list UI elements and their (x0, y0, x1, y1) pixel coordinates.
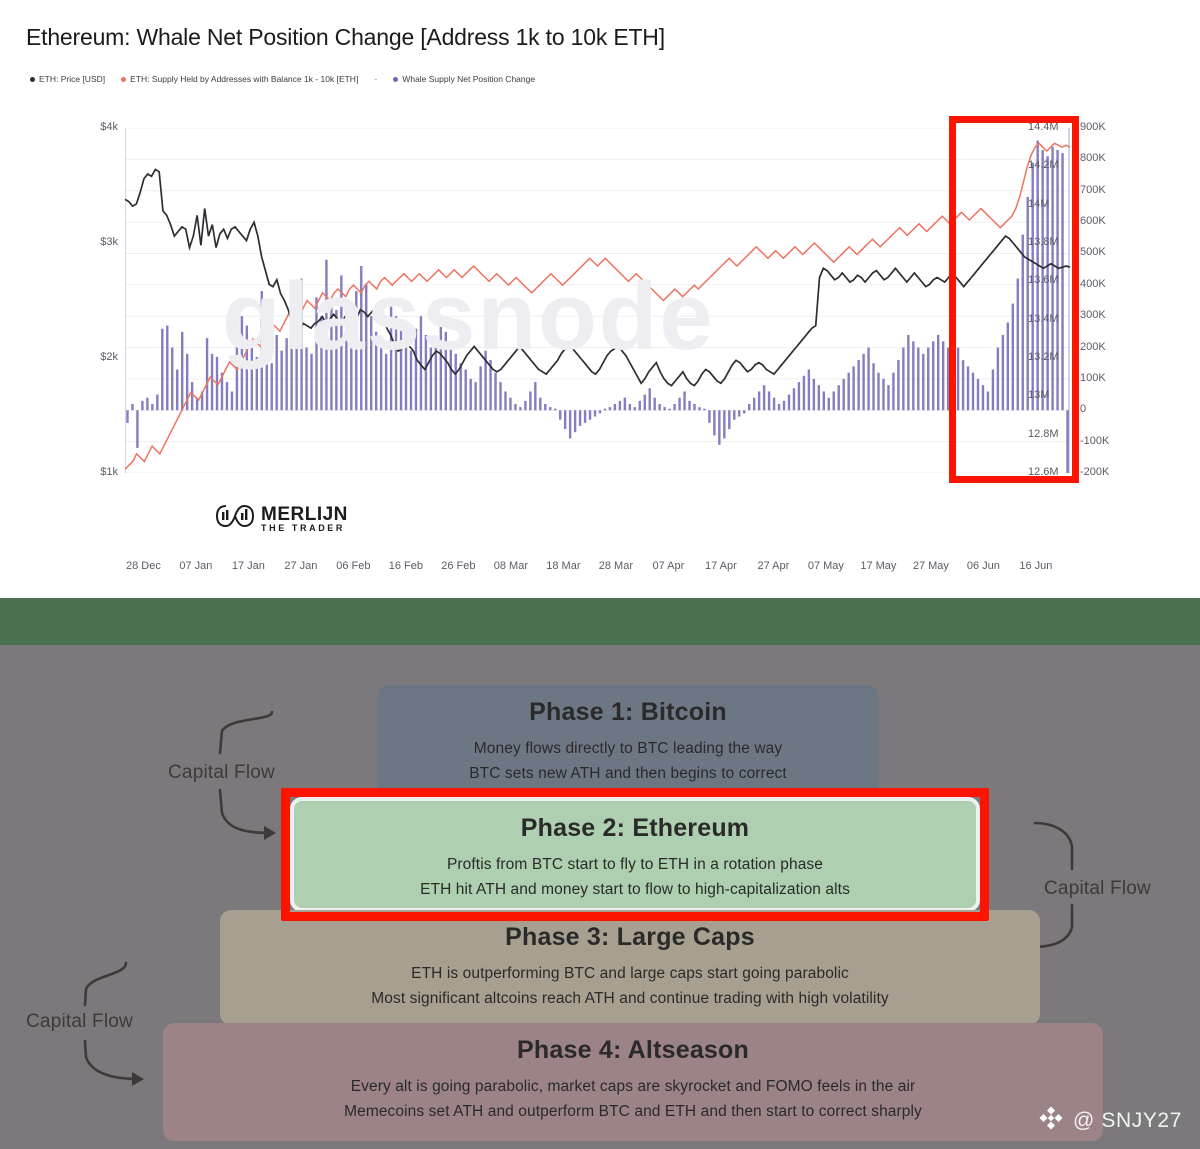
x-axis-tick: 07 Apr (652, 560, 684, 572)
y-axis-left-tick: $3k (100, 236, 118, 248)
merlijn-name: MERLIJN (261, 505, 348, 524)
phase-4-line-1: Every alt is going parabolic, market cap… (163, 1074, 1103, 1099)
legend-item-whale-net: Whale Supply Net Position Change (393, 74, 535, 84)
y-axis-right-tick: 700K (1080, 184, 1106, 196)
flow-arc-1-in (220, 712, 272, 753)
y-axis-right-tick: 600K (1080, 215, 1106, 227)
x-axis-tick: 27 Jan (284, 560, 317, 572)
y-axis-right-tick: 900K (1080, 121, 1106, 133)
y-axis-right-tick: -100K (1080, 435, 1109, 447)
legend-label-eth-price: ETH: Price [USD] (39, 74, 105, 84)
phase-3-line-1: ETH is outperforming BTC and large caps … (220, 961, 1040, 986)
flow-arrowhead-1 (264, 826, 276, 840)
y-axis-right-tick: 100K (1080, 372, 1106, 384)
y-axis-left-tick: $2k (100, 351, 118, 363)
phase-1-line-2: BTC sets new ATH and then begins to corr… (378, 761, 878, 786)
phase-4-line-2: Memecoins set ATH and outperform BTC and… (163, 1099, 1103, 1124)
legend-dot-eth-price (30, 77, 35, 82)
y-axis-right-tick: 400K (1080, 278, 1106, 290)
legend-label-whale-net: Whale Supply Net Position Change (402, 74, 535, 84)
merlijn-logo: MERLIJN THE TRADER (216, 504, 348, 533)
legend-label-eth-supply: ETH: Supply Held by Addresses with Balan… (130, 74, 358, 84)
y-axis-right-tick: 300K (1080, 309, 1106, 321)
chart-legend: ETH: Price [USD] ETH: Supply Held by Add… (30, 74, 551, 84)
phase-2-highlight-box (281, 788, 989, 921)
x-axis-tick: 27 Apr (757, 560, 789, 572)
x-axis-tick: 28 Dec (126, 560, 161, 572)
x-axis-tick: 17 Jan (232, 560, 265, 572)
y-axis-right-tick: 0 (1080, 403, 1086, 415)
x-axis-tick: 27 May (913, 560, 949, 572)
phase-card-altseason[interactable]: Phase 4: Altseason Every alt is going pa… (163, 1023, 1103, 1141)
legend-dot-whale-net (393, 77, 398, 82)
capital-flow-label-1: Capital Flow (168, 762, 275, 784)
y-axis-right-tick: 200K (1080, 341, 1106, 353)
flow-arrowhead-3 (132, 1072, 144, 1086)
y-axis-right-tick: -200K (1080, 466, 1109, 478)
y-axis-right-tick: 500K (1080, 246, 1106, 258)
x-axis-tick: 17 May (860, 560, 896, 572)
phase-3-title: Phase 3: Large Caps (220, 923, 1040, 952)
legend-item-eth-supply: ETH: Supply Held by Addresses with Balan… (121, 74, 358, 84)
phase-card-large-caps[interactable]: Phase 3: Large Caps ETH is outperforming… (220, 910, 1040, 1025)
x-axis-tick: 07 Jan (179, 560, 212, 572)
x-axis-tick: 07 May (808, 560, 844, 572)
y-axis-left-tick: $4k (100, 121, 118, 133)
phase-4-title: Phase 4: Altseason (163, 1036, 1103, 1065)
phase-diagram-panel: Phase 1: Bitcoin Money flows directly to… (0, 645, 1200, 1149)
x-axis-tick: 06 Feb (336, 560, 370, 572)
merlijn-infinity-icon (216, 504, 254, 533)
legend-separator: - (374, 74, 377, 84)
chart-title: Ethereum: Whale Net Position Change [Add… (26, 24, 665, 51)
phase-3-line-2: Most significant altcoins reach ATH and … (220, 986, 1040, 1011)
x-axis-tick: 16 Feb (389, 560, 423, 572)
x-axis-tick: 17 Apr (705, 560, 737, 572)
binance-watermark: @ SNJY27 (1038, 1105, 1182, 1136)
capital-flow-label-3: Capital Flow (26, 1011, 133, 1033)
phase-1-line-1: Money flows directly to BTC leading the … (378, 736, 878, 761)
binance-handle: @ SNJY27 (1073, 1109, 1182, 1133)
x-axis-tick: 28 Mar (599, 560, 633, 572)
y-axis-right-tick: 800K (1080, 152, 1106, 164)
x-axis-tick: 06 Jun (967, 560, 1000, 572)
capital-flow-label-2: Capital Flow (1044, 878, 1151, 900)
y-axis-right: 900K800K700K600K500K400K300K200K100K0-10… (1080, 128, 1150, 548)
flow-arc-2-in (1035, 823, 1072, 869)
x-axis: 28 Dec07 Jan17 Jan27 Jan06 Feb16 Feb26 F… (0, 560, 1200, 584)
legend-item-eth-price: ETH: Price [USD] (30, 74, 105, 84)
chart-highlight-box (949, 116, 1079, 483)
phase-1-title: Phase 1: Bitcoin (378, 698, 878, 727)
flow-arc-3-out (85, 1041, 140, 1079)
legend-dot-eth-supply (121, 77, 126, 82)
x-axis-tick: 18 Mar (546, 560, 580, 572)
flow-arc-3-in (85, 963, 126, 1005)
x-axis-tick: 16 Jun (1019, 560, 1052, 572)
x-axis-tick: 08 Mar (494, 560, 528, 572)
y-axis-left: $4k$3k$2k$1k (70, 128, 118, 548)
merlijn-tagline: THE TRADER (261, 524, 348, 533)
binance-logo-icon (1038, 1105, 1064, 1136)
glassnode-watermark: glassnode (222, 262, 715, 372)
green-divider-strip (0, 598, 1200, 645)
chart-panel: Ethereum: Whale Net Position Change [Add… (0, 0, 1200, 598)
merlijn-wordmark: MERLIJN THE TRADER (261, 505, 348, 533)
x-axis-tick: 26 Feb (441, 560, 475, 572)
y-axis-left-tick: $1k (100, 466, 118, 478)
